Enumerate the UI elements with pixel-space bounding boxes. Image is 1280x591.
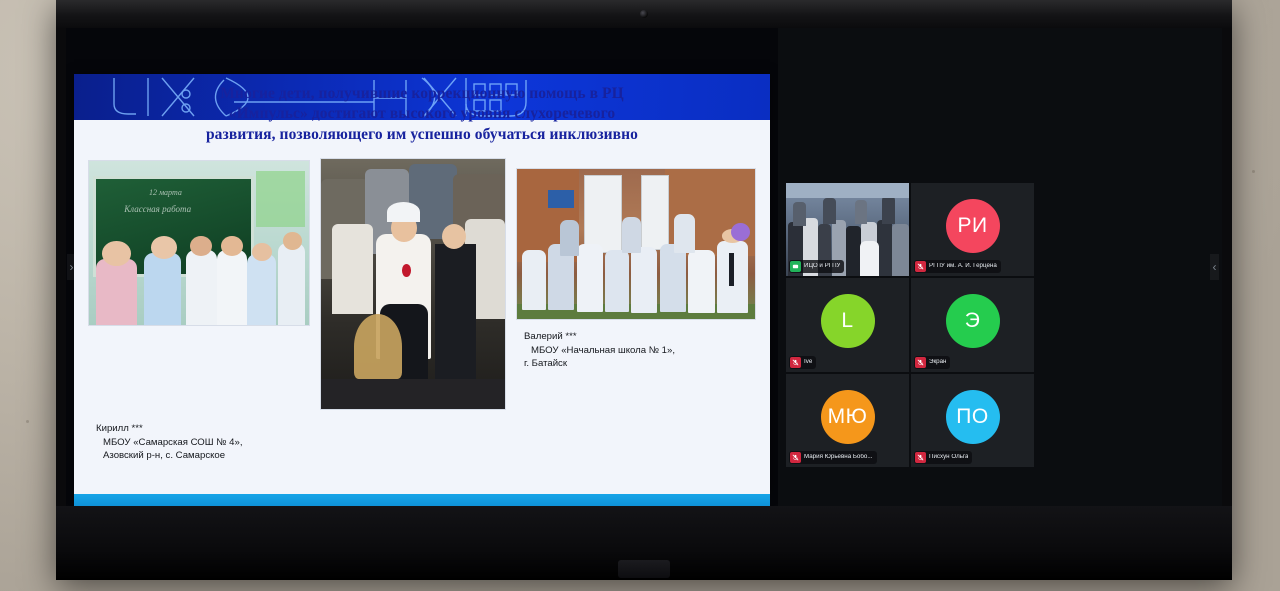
participant-tile[interactable]: ПО Писхун Ольга xyxy=(911,374,1034,467)
caption-school: МБОУ «Начальная школа № 1», xyxy=(524,344,675,358)
participant-name: Экран xyxy=(929,359,946,366)
caption-location: Азовский р-н, с. Самарское xyxy=(96,449,243,463)
slide-footer-band xyxy=(74,494,770,506)
participant-name: ИЦО и РГПУ xyxy=(804,263,840,270)
monitor-bezel-bottom xyxy=(56,506,1232,580)
monitor-screen: Многие дети, получившие коррекционную по… xyxy=(66,28,1222,506)
participant-nameplate: РГПУ им. А. И. Герцена xyxy=(914,260,1001,273)
avatar: РИ xyxy=(946,199,1000,253)
slide-photo-classroom: 12 марта Классная работа xyxy=(88,160,310,326)
participant-nameplate: ИЦО и РГПУ xyxy=(789,260,844,273)
slide-photo-ceremony xyxy=(320,158,506,410)
webcam-icon xyxy=(640,10,648,18)
chalkboard-text: Классная работа xyxy=(124,204,191,214)
participant-tile[interactable]: РИ РГПУ им. А. И. Герцена xyxy=(911,183,1034,276)
monitor-bezel-top xyxy=(56,0,1232,28)
photo-caption: Валерий *** МБОУ «Начальная школа № 1», … xyxy=(524,330,675,371)
chalkboard-text: 12 марта xyxy=(149,188,182,197)
caption-location: г. Батайск xyxy=(524,358,567,369)
participant-nameplate: Писхун Ольга xyxy=(914,451,972,464)
participant-name: Писхун Ольга xyxy=(929,454,968,461)
caption-school: МБОУ «Самарская СОШ № 4», xyxy=(96,436,243,450)
caption-person-name: Валерий *** xyxy=(524,331,577,342)
participant-tile[interactable]: L Ive xyxy=(786,278,909,371)
participant-panel: ИЦО и РГПУ РИ РГПУ им xyxy=(778,28,1222,506)
participant-grid: ИЦО и РГПУ РИ РГПУ им xyxy=(786,183,1034,467)
participant-nameplate: Экран xyxy=(914,356,950,369)
avatar: Э xyxy=(946,294,1000,348)
participant-name: Ive xyxy=(804,359,812,366)
avatar: МЮ xyxy=(821,390,875,444)
participant-tile[interactable]: МЮ Мария Юрьевна Бобо... xyxy=(786,374,909,467)
participant-tile[interactable]: ИЦО и РГПУ xyxy=(786,183,909,276)
participant-name: Мария Юрьевна Бобо... xyxy=(804,454,873,461)
monitor-stand xyxy=(618,560,670,578)
mic-off-icon xyxy=(790,357,801,368)
shared-screen-region[interactable]: Многие дети, получившие коррекционную по… xyxy=(66,28,778,506)
slide-title: Многие дети, получившие коррекционную по… xyxy=(98,84,746,145)
caption-person-name: Кирилл *** xyxy=(96,423,143,434)
presentation-slide[interactable]: Многие дети, получившие коррекционную по… xyxy=(74,74,770,494)
slide-photo-group: 12 марта Классная работа xyxy=(74,160,770,460)
slide-title-line: Многие дети, получившие коррекционную по… xyxy=(98,84,746,104)
participant-name: РГПУ им. А. И. Герцена xyxy=(929,263,997,270)
mic-off-icon xyxy=(915,261,926,272)
participant-nameplate: Ive xyxy=(789,356,816,369)
collapse-left-arrow-icon[interactable]: › xyxy=(67,254,76,280)
participant-tile[interactable]: Э Экран xyxy=(911,278,1034,371)
mic-off-icon xyxy=(790,452,801,463)
mic-off-icon xyxy=(915,452,926,463)
participant-nameplate: Мария Юрьевна Бобо... xyxy=(789,451,877,464)
collapse-right-arrow-icon[interactable]: ‹ xyxy=(1210,254,1219,280)
mic-on-icon xyxy=(790,261,801,272)
slide-title-line: развития, позволяющего им успешно обучат… xyxy=(98,125,746,145)
slide-title-line: «Импульс» достигают высокого уровня слух… xyxy=(98,104,746,124)
slide-photo-school-entrance xyxy=(516,168,756,320)
photo-caption: Кирилл *** МБОУ «Самарская СОШ № 4», Азо… xyxy=(96,422,243,463)
monitor: Многие дети, получившие коррекционную по… xyxy=(56,0,1232,580)
avatar: ПО xyxy=(946,390,1000,444)
mic-off-icon xyxy=(915,357,926,368)
avatar: L xyxy=(821,294,875,348)
